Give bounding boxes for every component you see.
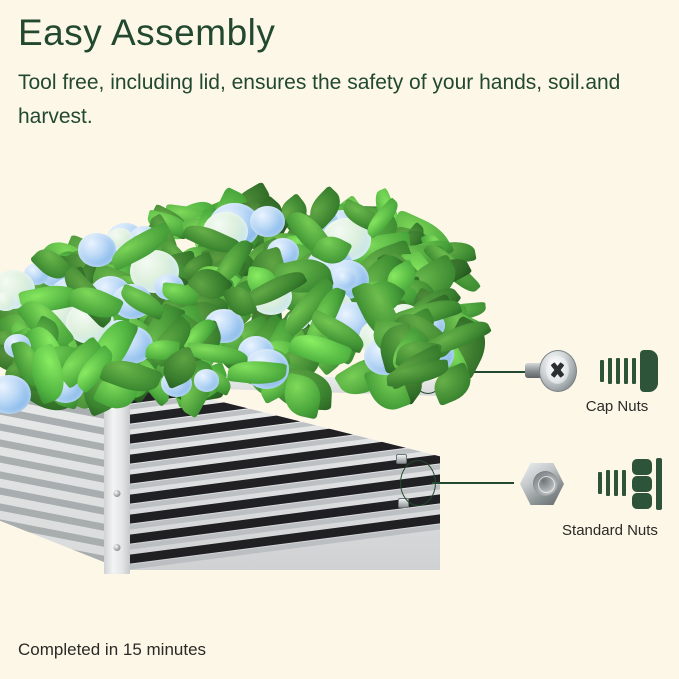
standard-nut-schematic-icon [598, 458, 664, 510]
callout-leader-standard-nuts [432, 482, 514, 484]
completion-note: Completed in 15 minutes [18, 640, 206, 660]
callout-marker-standard-nuts [400, 460, 436, 506]
hydrangea-bloom [194, 369, 220, 392]
page-title: Easy Assembly [18, 12, 275, 54]
product-scene: Cap Nuts Standard Nuts [0, 150, 679, 610]
callout-label-standard-nuts: Standard Nuts [543, 522, 677, 539]
post-screw [114, 490, 121, 497]
promo-graphic: Easy Assembly Tool free, including lid, … [0, 0, 679, 679]
hex-nut-icon [516, 462, 566, 506]
callout-label-cap-nuts: Cap Nuts [556, 398, 678, 415]
hydrangea-plant [0, 165, 452, 395]
page-subtitle: Tool free, including lid, ensures the sa… [18, 66, 638, 134]
cap-nut-schematic-icon [600, 348, 662, 394]
bed-corner-post [104, 394, 130, 574]
phillips-cap-nut-icon [525, 348, 577, 392]
hydrangea-bloom [78, 233, 116, 266]
post-screw [114, 544, 121, 551]
hydrangea-bloom [250, 206, 285, 237]
bed-bolt-panel [396, 454, 407, 464]
